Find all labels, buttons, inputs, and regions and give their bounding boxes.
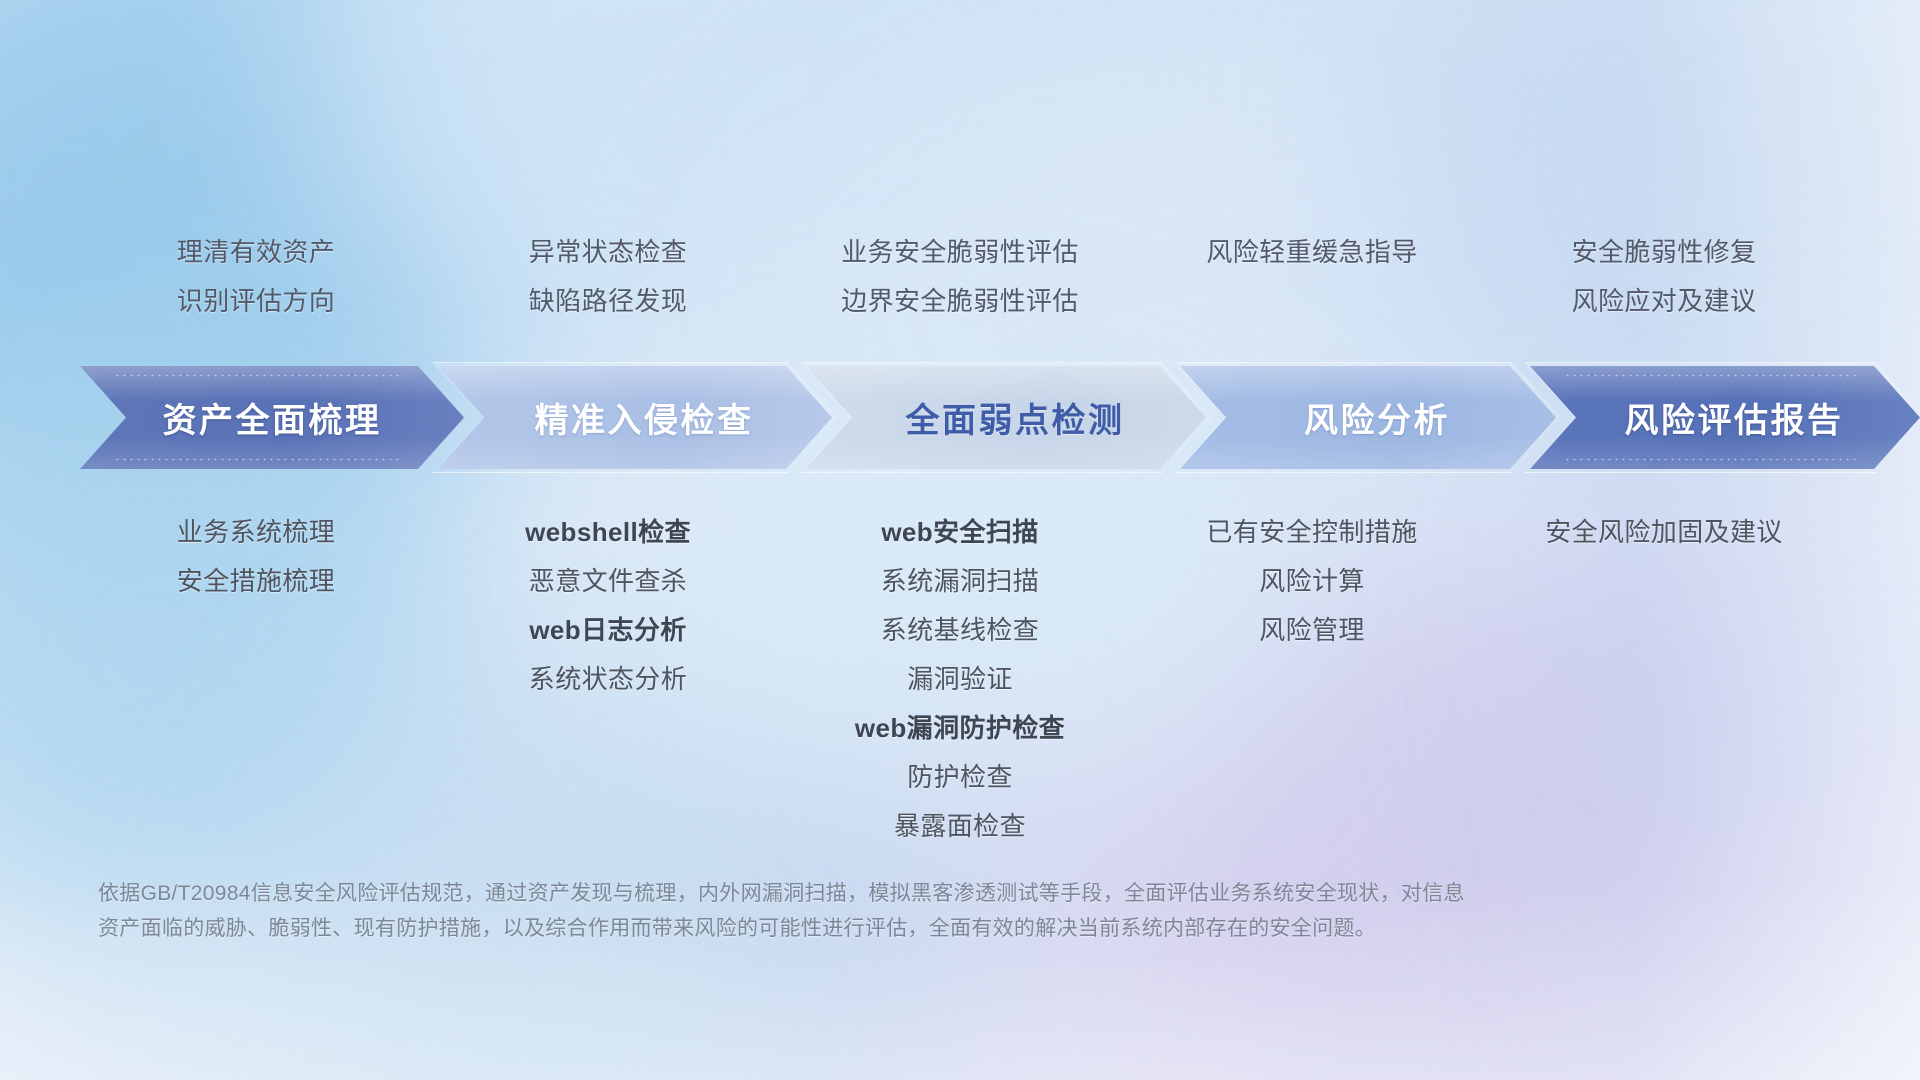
output-item: 理清有效资产 xyxy=(177,228,335,277)
output-item: 边界安全脆弱性评估 xyxy=(841,277,1079,326)
footer-line-1: 依据GB/T20984信息安全风险评估规范，通过资产发现与梳理，内外网漏洞扫描，… xyxy=(98,876,1658,911)
activity-item: 防护检查 xyxy=(907,753,1013,802)
activity-item: 漏洞验证 xyxy=(907,655,1013,704)
stage-activities-weakness-detection: web安全扫描 系统漏洞扫描 系统基线检查 漏洞验证 web漏洞防护检查 防护检… xyxy=(784,508,1136,851)
activity-item: web安全扫描 xyxy=(881,508,1038,557)
activity-item: 系统漏洞扫描 xyxy=(881,557,1039,606)
stage-chevron-risk-analysis[interactable]: 风险分析 xyxy=(1180,366,1556,469)
stage-outputs-asset-inventory: 理清有效资产 识别评估方向 xyxy=(80,228,432,326)
stage-activities-risk-report: 安全风险加固及建议 xyxy=(1488,508,1840,851)
chevron-dot-pattern xyxy=(1564,457,1860,462)
activity-item: webshell检查 xyxy=(525,508,691,557)
stage-chevron-intrusion-check[interactable]: 精准入侵检查 xyxy=(438,366,832,469)
stage-activities-row: 业务系统梳理 安全措施梳理 webshell检查 恶意文件查杀 web日志分析 … xyxy=(80,508,1840,851)
activity-item: 恶意文件查杀 xyxy=(529,557,687,606)
output-item: 异常状态检查 xyxy=(529,228,687,277)
stage-activities-asset-inventory: 业务系统梳理 安全措施梳理 xyxy=(80,508,432,851)
activity-item: 暴露面检查 xyxy=(894,802,1026,851)
stage-activities-intrusion-check: webshell检查 恶意文件查杀 web日志分析 系统状态分析 xyxy=(432,508,784,851)
stage-chevron-weakness-detection[interactable]: 全面弱点检测 xyxy=(806,366,1206,469)
stage-outputs-row: 理清有效资产 识别评估方向 异常状态检查 缺陷路径发现 业务安全脆弱性评估 边界… xyxy=(80,228,1840,326)
output-item: 安全脆弱性修复 xyxy=(1572,228,1757,277)
stage-chevron-band: 资产全面梳理 精准入侵检查 全面弱点检测 风险分析 风险评估报告 xyxy=(80,366,1840,469)
stage-chevron-label: 风险评估报告 xyxy=(1625,393,1844,442)
stage-activities-risk-analysis: 已有安全控制措施 风险计算 风险管理 xyxy=(1136,508,1488,851)
process-diagram: 理清有效资产 识别评估方向 异常状态检查 缺陷路径发现 业务安全脆弱性评估 边界… xyxy=(0,0,1920,1080)
activity-item: 风险计算 xyxy=(1259,557,1365,606)
activity-item: 业务系统梳理 xyxy=(177,508,335,557)
stage-chevron-risk-report[interactable]: 风险评估报告 xyxy=(1530,366,1920,469)
stage-outputs-risk-analysis: 风险轻重缓急指导 xyxy=(1136,228,1488,326)
stage-chevron-label: 全面弱点检测 xyxy=(906,393,1125,442)
activity-item: web日志分析 xyxy=(529,606,686,655)
stage-chevron-label: 风险分析 xyxy=(1304,393,1450,442)
chevron-dot-pattern xyxy=(114,457,404,462)
stage-chevron-asset-inventory[interactable]: 资产全面梳理 xyxy=(80,366,464,469)
activity-item: web漏洞防护检查 xyxy=(855,704,1065,753)
chevron-dot-pattern xyxy=(114,373,404,378)
activity-item: 风险管理 xyxy=(1259,606,1365,655)
activity-item: 已有安全控制措施 xyxy=(1206,508,1417,557)
activity-item: 安全措施梳理 xyxy=(177,557,335,606)
chevron-dot-pattern xyxy=(1564,373,1860,378)
activity-item: 安全风险加固及建议 xyxy=(1545,508,1783,557)
activity-item: 系统基线检查 xyxy=(881,606,1039,655)
footer-description: 依据GB/T20984信息安全风险评估规范，通过资产发现与梳理，内外网漏洞扫描，… xyxy=(98,876,1658,946)
output-item: 风险应对及建议 xyxy=(1572,277,1757,326)
stage-outputs-weakness-detection: 业务安全脆弱性评估 边界安全脆弱性评估 xyxy=(784,228,1136,326)
output-item: 业务安全脆弱性评估 xyxy=(841,228,1079,277)
output-item: 识别评估方向 xyxy=(177,277,335,326)
stage-chevron-label: 资产全面梳理 xyxy=(163,393,382,442)
footer-line-2: 资产面临的威胁、脆弱性、现有防护措施，以及综合作用而带来风险的可能性进行评估，全… xyxy=(98,911,1658,946)
output-item: 风险轻重缓急指导 xyxy=(1206,228,1417,277)
stage-outputs-risk-report: 安全脆弱性修复 风险应对及建议 xyxy=(1488,228,1840,326)
stage-outputs-intrusion-check: 异常状态检查 缺陷路径发现 xyxy=(432,228,784,326)
stage-chevron-label: 精准入侵检查 xyxy=(535,393,754,442)
activity-item: 系统状态分析 xyxy=(529,655,687,704)
output-item: 缺陷路径发现 xyxy=(529,277,687,326)
